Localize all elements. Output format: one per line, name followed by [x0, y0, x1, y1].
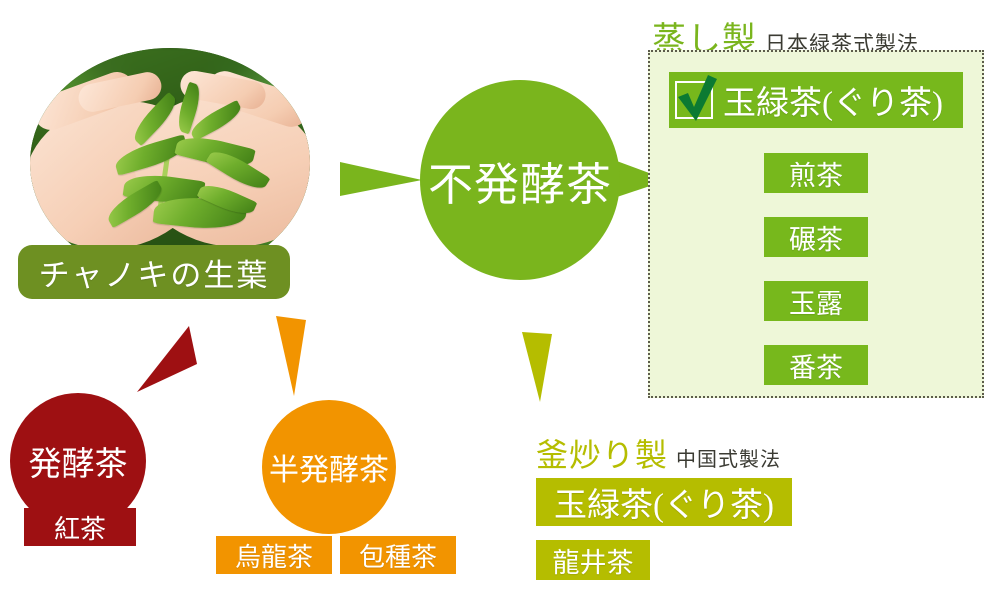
pan-fired-title: 釜炒り製 中国式製法	[536, 430, 781, 476]
arrow-unfermented-to-panfired	[510, 330, 564, 406]
pan-fired-item-longjing: 龍井茶	[536, 540, 650, 580]
fermented-item-koucha: 紅茶	[24, 508, 136, 546]
semi-fermented-tea-circle: 半発酵茶	[262, 400, 396, 534]
pan-fired-title-main: 釜炒り製	[536, 430, 668, 476]
tea-classification-diagram: チャノキの生葉 不発酵茶 発酵茶 半発酵茶 紅茶 烏龍茶 包種茶 蒸し製 日本緑…	[0, 0, 1000, 602]
arrow-photo-to-fermented	[135, 322, 201, 402]
semi-fermented-item-oolong: 烏龍茶	[216, 536, 332, 574]
arrow-photo-to-unfermented	[338, 150, 424, 210]
pan-fired-title-sub: 中国式製法	[676, 443, 781, 472]
steamed-item-bancha: 番茶	[764, 345, 868, 385]
steamed-item-sencha: 煎茶	[764, 153, 868, 193]
checkbox-checked-icon[interactable]	[675, 81, 713, 119]
unfermented-tea-circle: 不発酵茶	[420, 80, 620, 280]
arrow-photo-to-semifermented	[262, 312, 314, 402]
fresh-tea-leaves-photo	[30, 48, 310, 278]
steamed-item-main-label: 玉緑茶(ぐり茶)	[723, 76, 943, 124]
fresh-leaf-label: チャノキの生葉	[18, 245, 290, 299]
pan-fired-item-tamaryokucha: 玉緑茶(ぐり茶)	[536, 478, 792, 526]
steamed-item-tencha: 碾茶	[764, 217, 868, 257]
semi-fermented-item-pouchong: 包種茶	[340, 536, 456, 574]
steamed-item-gyokuro: 玉露	[764, 281, 868, 321]
steamed-item-tamaryokucha: 玉緑茶(ぐり茶)	[669, 72, 963, 128]
